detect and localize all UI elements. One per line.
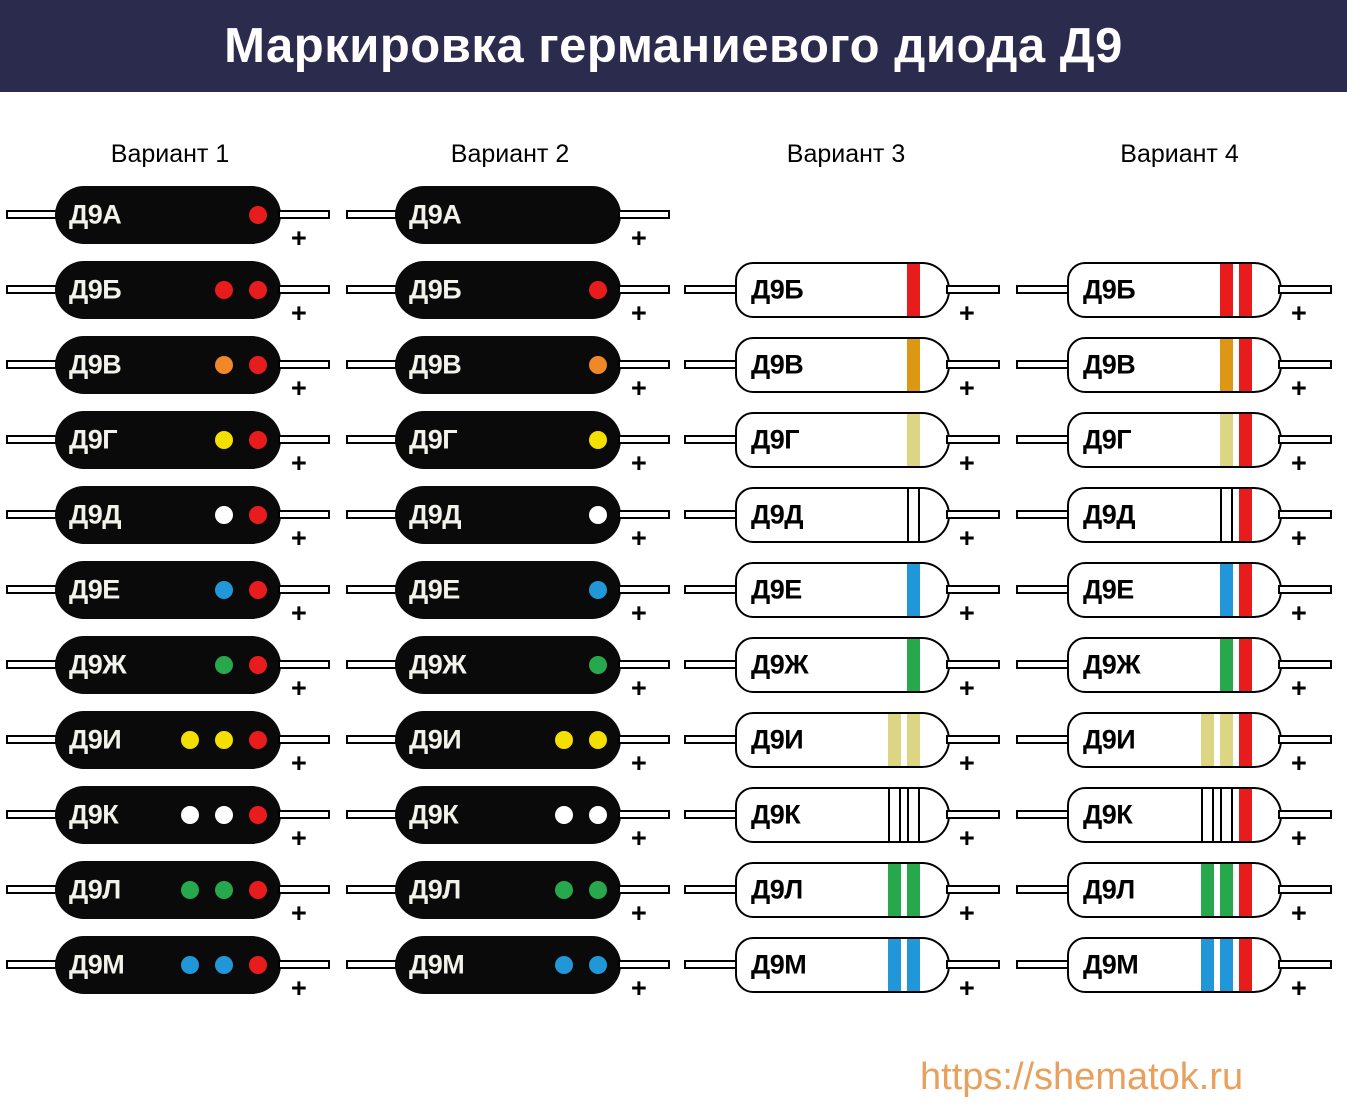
lead-anode <box>1016 585 1070 594</box>
color-mark-group <box>555 731 607 749</box>
diode-row: Д9Л+ <box>0 851 340 926</box>
color-dot-red <box>249 506 267 524</box>
color-mark-group <box>215 356 267 374</box>
diode-row: Д9Ж+ <box>340 626 680 701</box>
color-stripe-blue <box>907 564 920 616</box>
color-mark-group <box>181 806 267 824</box>
diode-type-label: Д9Л <box>1083 875 1135 906</box>
color-mark-group <box>215 431 267 449</box>
lead-anode <box>684 960 738 969</box>
diode-row: Д9Д+ <box>340 476 680 551</box>
lead-anode <box>1016 960 1070 969</box>
polarity-plus-sign: + <box>959 600 975 627</box>
polarity-plus-sign: + <box>1291 975 1307 1002</box>
polarity-plus-sign: + <box>291 750 307 777</box>
lead-cathode <box>278 285 330 294</box>
color-stripe-blue <box>1220 564 1233 616</box>
lead-anode <box>346 660 398 669</box>
color-stripe-yellow <box>888 714 901 766</box>
color-dot-yellow <box>555 731 573 749</box>
polarity-plus-sign: + <box>1291 900 1307 927</box>
color-dot-red <box>249 581 267 599</box>
color-stripe-white <box>1220 789 1233 841</box>
lead-cathode <box>946 735 1000 744</box>
diode-row: Д9Л+ <box>340 851 680 926</box>
diode-body[interactable]: Д9Г <box>395 411 621 469</box>
lead-cathode <box>946 960 1000 969</box>
diode-body[interactable]: Д9Г <box>55 411 281 469</box>
lead-cathode <box>618 210 670 219</box>
diode-type-label: Д9В <box>69 350 121 381</box>
lead-anode <box>684 810 738 819</box>
diode-type-label: Д9Б <box>751 275 803 306</box>
diode-type-label: Д9К <box>69 800 118 831</box>
lead-anode <box>1016 735 1070 744</box>
color-mark-group <box>589 356 607 374</box>
diode-type-label: Д9Д <box>751 500 803 531</box>
color-dot-blue <box>181 956 199 974</box>
polarity-plus-sign: + <box>631 525 647 552</box>
diode-body[interactable]: Д9Д <box>1067 487 1282 543</box>
color-stripe-green <box>1220 639 1233 691</box>
lead-anode <box>6 810 58 819</box>
lead-cathode <box>618 735 670 744</box>
lead-anode <box>346 435 398 444</box>
color-dot-yellow <box>589 731 607 749</box>
polarity-plus-sign: + <box>1291 600 1307 627</box>
polarity-plus-sign: + <box>1291 375 1307 402</box>
color-stripe-blue <box>1220 939 1233 991</box>
diode-body[interactable]: Д9Б <box>55 261 281 319</box>
polarity-plus-sign: + <box>959 525 975 552</box>
color-dot-white <box>215 506 233 524</box>
lead-anode <box>1016 285 1070 294</box>
diode-body[interactable]: Д9И <box>735 712 950 768</box>
lead-cathode <box>278 960 330 969</box>
color-stripe-blue <box>888 939 901 991</box>
polarity-plus-sign: + <box>631 750 647 777</box>
lead-cathode <box>946 435 1000 444</box>
diode-type-label: Д9М <box>409 950 464 981</box>
diode-body[interactable]: Д9Г <box>1067 412 1282 468</box>
diode-row: Д9Д+ <box>0 476 340 551</box>
lead-cathode <box>946 510 1000 519</box>
color-stripe-orange <box>907 339 920 391</box>
diode-type-label: Д9Г <box>1083 425 1131 456</box>
color-dot-blue <box>215 956 233 974</box>
lead-anode <box>346 210 398 219</box>
diode-body[interactable]: Д9К <box>1067 787 1282 843</box>
diode-type-label: Д9Ж <box>1083 650 1140 681</box>
diode-body[interactable]: Д9Л <box>55 861 281 919</box>
lead-anode <box>6 585 58 594</box>
color-stripe-green <box>907 864 920 916</box>
color-mark-group <box>215 656 267 674</box>
diode-body[interactable]: Д9В <box>55 336 281 394</box>
diode-type-label: Д9К <box>751 800 800 831</box>
diode-row: Д9Б+ <box>680 251 1020 326</box>
color-mark-group <box>181 881 267 899</box>
color-dot-yellow <box>589 431 607 449</box>
diode-body[interactable]: Д9Л <box>1067 862 1282 918</box>
color-dot-red <box>215 281 233 299</box>
lead-cathode <box>946 285 1000 294</box>
diode-row: Д9В+ <box>1012 326 1347 401</box>
color-mark-group <box>1220 414 1252 466</box>
lead-cathode <box>946 810 1000 819</box>
polarity-plus-sign: + <box>1291 525 1307 552</box>
diode-row: Д9Ж+ <box>0 626 340 701</box>
diode-row: Д9Д+ <box>680 476 1020 551</box>
diode-body[interactable]: Д9Б <box>1067 262 1282 318</box>
column-header-variant-2: Вариант 2 <box>340 140 680 170</box>
diode-body[interactable]: Д9Е <box>1067 562 1282 618</box>
color-dot-red <box>249 281 267 299</box>
diode-type-label: Д9Л <box>409 875 461 906</box>
color-mark-group <box>907 264 920 316</box>
lead-anode <box>6 435 58 444</box>
lead-anode <box>1016 435 1070 444</box>
polarity-plus-sign: + <box>631 825 647 852</box>
lead-cathode <box>618 510 670 519</box>
diode-type-label: Д9М <box>1083 950 1138 981</box>
color-stripe-yellow <box>907 414 920 466</box>
color-mark-group <box>888 714 920 766</box>
color-mark-group <box>1220 489 1252 541</box>
lead-anode <box>684 885 738 894</box>
color-stripe-orange <box>1220 339 1233 391</box>
lead-anode <box>6 285 58 294</box>
diode-body[interactable]: Д9Б <box>735 262 950 318</box>
polarity-plus-sign: + <box>631 300 647 327</box>
lead-anode <box>6 210 58 219</box>
diode-body[interactable]: Д9Ж <box>395 636 621 694</box>
lead-anode <box>684 660 738 669</box>
polarity-plus-sign: + <box>1291 450 1307 477</box>
color-stripe-red <box>1220 264 1233 316</box>
diode-type-label: Д9Д <box>69 500 121 531</box>
diode-row: Д9В+ <box>340 326 680 401</box>
diode-body[interactable]: Д9М <box>735 937 950 993</box>
polarity-plus-sign: + <box>291 525 307 552</box>
color-stripe-yellow <box>1220 414 1233 466</box>
color-dot-orange <box>589 356 607 374</box>
color-stripe-green <box>1201 864 1214 916</box>
color-mark-group <box>215 581 267 599</box>
polarity-plus-sign: + <box>631 675 647 702</box>
lead-cathode <box>1278 435 1332 444</box>
diode-row: Д9Ж+ <box>1012 626 1347 701</box>
lead-cathode <box>1278 960 1332 969</box>
polarity-plus-sign: + <box>631 975 647 1002</box>
diode-body[interactable]: Д9Д <box>55 486 281 544</box>
lead-anode <box>346 960 398 969</box>
color-stripe-blue <box>1201 939 1214 991</box>
lead-anode <box>346 510 398 519</box>
color-dot-red <box>249 356 267 374</box>
color-dot-green <box>589 656 607 674</box>
color-dot-red <box>249 806 267 824</box>
diode-row: Д9И+ <box>680 701 1020 776</box>
diode-row: Д9Е+ <box>340 551 680 626</box>
color-dot-red <box>589 281 607 299</box>
diode-type-label: Д9А <box>69 200 121 231</box>
color-mark-group <box>215 281 267 299</box>
color-stripe-red <box>1239 639 1252 691</box>
diode-body[interactable]: Д9В <box>735 337 950 393</box>
diode-column-variant-3: Д9Б+Д9В+Д9Г+Д9Д+Д9Е+Д9Ж+Д9И+Д9К+Д9Л+Д9М+ <box>680 176 1020 1001</box>
color-mark-group <box>181 956 267 974</box>
lead-cathode <box>278 210 330 219</box>
diode-type-label: Д9Ж <box>69 650 126 681</box>
lead-anode <box>346 885 398 894</box>
polarity-plus-sign: + <box>291 300 307 327</box>
polarity-plus-sign: + <box>959 300 975 327</box>
lead-cathode <box>1278 885 1332 894</box>
diode-body[interactable]: Д9А <box>55 186 281 244</box>
diode-row: Д9Г+ <box>0 401 340 476</box>
lead-cathode <box>618 660 670 669</box>
diode-row: Д9Е+ <box>680 551 1020 626</box>
polarity-plus-sign: + <box>631 375 647 402</box>
column-header-variant-1: Вариант 1 <box>0 140 340 170</box>
color-dot-red <box>249 206 267 224</box>
color-stripe-white <box>1220 489 1233 541</box>
polarity-plus-sign: + <box>959 375 975 402</box>
color-mark-group <box>907 489 920 541</box>
color-stripe-yellow <box>1220 714 1233 766</box>
diode-body[interactable]: Д9Ж <box>55 636 281 694</box>
diode-body[interactable]: Д9И <box>395 711 621 769</box>
color-dot-orange <box>215 356 233 374</box>
diode-body[interactable]: Д9Е <box>55 561 281 619</box>
color-stripe-white <box>907 489 920 541</box>
color-stripe-green <box>1220 864 1233 916</box>
diode-type-label: Д9Г <box>409 425 457 456</box>
diode-body[interactable]: Д9М <box>55 936 281 994</box>
color-stripe-red <box>1239 264 1252 316</box>
diode-row: Д9К+ <box>340 776 680 851</box>
diode-type-label: Д9Л <box>751 875 803 906</box>
color-dot-green <box>555 881 573 899</box>
lead-cathode <box>946 885 1000 894</box>
polarity-plus-sign: + <box>291 225 307 252</box>
color-stripe-red <box>1239 789 1252 841</box>
color-mark-group <box>215 506 267 524</box>
polarity-plus-sign: + <box>1291 825 1307 852</box>
polarity-plus-sign: + <box>631 225 647 252</box>
lead-cathode <box>618 435 670 444</box>
color-mark-group <box>907 339 920 391</box>
title-bar: Маркировка германиевого диода Д9 <box>0 0 1347 92</box>
polarity-plus-sign: + <box>1291 750 1307 777</box>
diode-type-label: Д9Е <box>1083 575 1134 606</box>
lead-anode <box>6 360 58 369</box>
diode-body[interactable]: Д9М <box>395 936 621 994</box>
diode-type-label: Д9Д <box>409 500 461 531</box>
column-header-variant-4: Вариант 4 <box>1012 140 1347 170</box>
color-dot-blue <box>589 956 607 974</box>
diode-type-label: Д9В <box>1083 350 1135 381</box>
diode-row: Д9И+ <box>340 701 680 776</box>
lead-cathode <box>1278 810 1332 819</box>
diode-row: Д9В+ <box>680 326 1020 401</box>
diode-body[interactable]: Д9К <box>55 786 281 844</box>
lead-anode <box>684 360 738 369</box>
lead-cathode <box>278 360 330 369</box>
diode-row: Д9Ж+ <box>680 626 1020 701</box>
polarity-plus-sign: + <box>291 675 307 702</box>
diode-row: Д9Е+ <box>1012 551 1347 626</box>
lead-anode <box>346 810 398 819</box>
color-mark-group <box>1201 864 1252 916</box>
color-stripe-red <box>1239 414 1252 466</box>
lead-cathode <box>618 285 670 294</box>
polarity-plus-sign: + <box>291 900 307 927</box>
color-dot-yellow <box>215 731 233 749</box>
diode-row: Д9Г+ <box>680 401 1020 476</box>
lead-anode <box>684 585 738 594</box>
color-dot-green <box>215 881 233 899</box>
polarity-plus-sign: + <box>959 825 975 852</box>
lead-cathode <box>278 810 330 819</box>
diode-type-label: Д9Е <box>751 575 802 606</box>
color-mark-group <box>249 206 267 224</box>
diode-type-label: Д9Ж <box>751 650 808 681</box>
color-stripe-green <box>888 864 901 916</box>
diode-body[interactable]: Д9Е <box>395 561 621 619</box>
color-dot-white <box>555 806 573 824</box>
color-dot-blue <box>589 581 607 599</box>
diode-body[interactable]: Д9К <box>735 787 950 843</box>
diode-body[interactable]: Д9В <box>395 336 621 394</box>
lead-cathode <box>946 660 1000 669</box>
diode-row: Д9Б+ <box>1012 251 1347 326</box>
diode-type-label: Д9Б <box>1083 275 1135 306</box>
diode-row: Д9К+ <box>1012 776 1347 851</box>
diode-column-variant-2: Д9А+Д9Б+Д9В+Д9Г+Д9Д+Д9Е+Д9Ж+Д9И+Д9К+Д9Л+… <box>340 176 680 1001</box>
diode-body[interactable]: Д9А <box>395 186 621 244</box>
diode-row: Д9Д+ <box>1012 476 1347 551</box>
diode-body[interactable]: Д9Л <box>735 862 950 918</box>
color-stripe-white <box>888 789 901 841</box>
color-mark-group <box>1220 264 1252 316</box>
diode-row: Д9К+ <box>680 776 1020 851</box>
lead-anode <box>6 735 58 744</box>
lead-cathode <box>618 585 670 594</box>
color-stripe-yellow <box>907 714 920 766</box>
diode-body[interactable]: Д9Е <box>735 562 950 618</box>
diode-body[interactable]: Д9В <box>1067 337 1282 393</box>
diode-type-label: Д9Л <box>69 875 121 906</box>
lead-anode <box>684 285 738 294</box>
diode-type-label: Д9Б <box>409 275 461 306</box>
source-url[interactable]: https://shematok.ru <box>920 1056 1243 1099</box>
diode-row: Д9И+ <box>1012 701 1347 776</box>
diode-body[interactable]: Д9К <box>395 786 621 844</box>
color-mark-group <box>589 281 607 299</box>
diode-row: Д9М+ <box>680 926 1020 1001</box>
color-mark-group <box>589 431 607 449</box>
diode-type-label: Д9М <box>751 950 806 981</box>
diode-body[interactable]: Д9М <box>1067 937 1282 993</box>
color-mark-group <box>888 789 920 841</box>
color-stripe-white <box>907 789 920 841</box>
lead-cathode <box>278 660 330 669</box>
color-mark-group <box>589 506 607 524</box>
lead-cathode <box>618 360 670 369</box>
color-dot-blue <box>555 956 573 974</box>
lead-cathode <box>278 735 330 744</box>
lead-anode <box>684 735 738 744</box>
color-dot-yellow <box>181 731 199 749</box>
diode-body[interactable]: Д9Ж <box>1067 637 1282 693</box>
lead-cathode <box>278 885 330 894</box>
diode-type-label: Д9М <box>69 950 124 981</box>
color-mark-group <box>888 939 920 991</box>
diode-column-variant-4: Д9Б+Д9В+Д9Г+Д9Д+Д9Е+Д9Ж+Д9И+Д9К+Д9Л+Д9М+ <box>1012 176 1347 1001</box>
diode-row: Д9А+ <box>0 176 340 251</box>
diode-body[interactable]: Д9Д <box>735 487 950 543</box>
diode-body[interactable]: Д9И <box>55 711 281 769</box>
color-mark-group <box>907 564 920 616</box>
color-dot-white <box>589 806 607 824</box>
polarity-plus-sign: + <box>291 375 307 402</box>
polarity-plus-sign: + <box>291 825 307 852</box>
diode-body[interactable]: Д9Б <box>395 261 621 319</box>
color-dot-red <box>249 881 267 899</box>
polarity-plus-sign: + <box>631 450 647 477</box>
diode-body[interactable]: Д9И <box>1067 712 1282 768</box>
color-dot-green <box>215 656 233 674</box>
polarity-plus-sign: + <box>631 900 647 927</box>
lead-anode <box>1016 810 1070 819</box>
diode-body[interactable]: Д9Д <box>395 486 621 544</box>
lead-cathode <box>946 360 1000 369</box>
diode-body[interactable]: Д9Г <box>735 412 950 468</box>
diode-row: Д9М+ <box>0 926 340 1001</box>
diode-type-label: Д9Г <box>751 425 799 456</box>
diode-type-label: Д9И <box>1083 725 1135 756</box>
color-mark-group <box>589 656 607 674</box>
diode-type-label: Д9Е <box>69 575 120 606</box>
color-dot-blue <box>215 581 233 599</box>
polarity-plus-sign: + <box>959 750 975 777</box>
diode-row: Д9А+ <box>340 176 680 251</box>
polarity-plus-sign: + <box>291 450 307 477</box>
diode-type-label: Д9К <box>409 800 458 831</box>
diode-row: Д9В+ <box>0 326 340 401</box>
diode-type-label: Д9А <box>409 200 461 231</box>
diode-body[interactable]: Д9Ж <box>735 637 950 693</box>
lead-anode <box>6 660 58 669</box>
diode-body[interactable]: Д9Л <box>395 861 621 919</box>
color-stripe-red <box>1239 339 1252 391</box>
color-stripe-red <box>1239 714 1252 766</box>
color-mark-group <box>1201 939 1252 991</box>
polarity-plus-sign: + <box>959 975 975 1002</box>
color-mark-group <box>907 639 920 691</box>
diode-row: Д9Г+ <box>340 401 680 476</box>
polarity-plus-sign: + <box>959 450 975 477</box>
polarity-plus-sign: + <box>959 900 975 927</box>
lead-anode <box>684 435 738 444</box>
color-mark-group <box>555 806 607 824</box>
lead-cathode <box>618 810 670 819</box>
color-mark-group <box>555 956 607 974</box>
color-stripe-red <box>1239 489 1252 541</box>
diode-row: Д9М+ <box>1012 926 1347 1001</box>
